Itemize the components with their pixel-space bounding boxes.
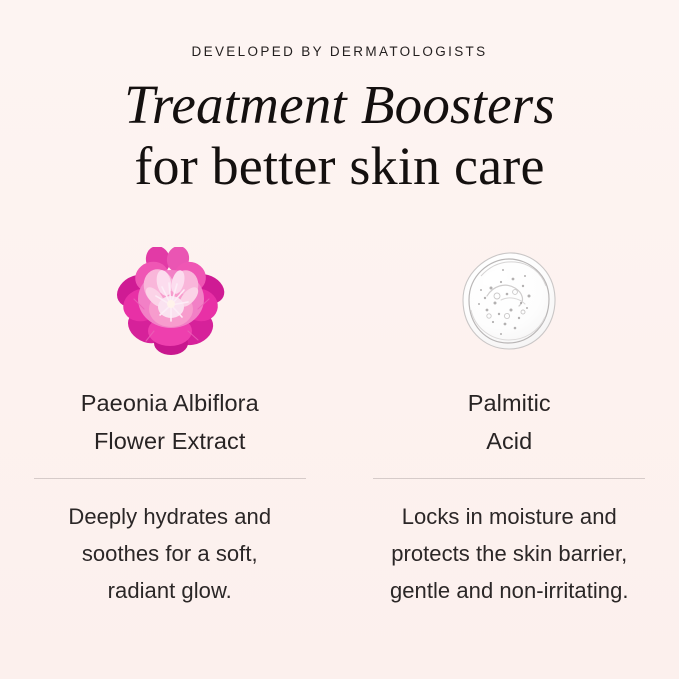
- headline-line-2: for better skin care: [0, 136, 679, 196]
- gel-art: [434, 240, 584, 362]
- ingredient-description-peony: Deeply hydrates and soothes for a soft, …: [68, 498, 271, 609]
- pink-peony-flower-icon: [114, 247, 226, 355]
- ingredient-name-palmitic-acid: Palmitic Acid: [468, 384, 551, 460]
- description-line-3: gentle and non-irritating.: [390, 572, 629, 609]
- headline-line-1: Treatment Boosters: [0, 74, 679, 136]
- ingredient-name-line-2: Acid: [468, 422, 551, 460]
- ingredient-columns: Paeonia Albiflora Flower Extract Deeply …: [0, 240, 679, 609]
- clear-gel-droplet-icon: [457, 248, 561, 354]
- description-line-1: Locks in moisture and: [390, 498, 629, 535]
- description-line-2: protects the skin barrier,: [390, 535, 629, 572]
- eyebrow-label: DEVELOPED BY DERMATOLOGISTS: [0, 44, 679, 59]
- product-ingredient-poster: DEVELOPED BY DERMATOLOGISTS Treatment Bo…: [0, 0, 679, 679]
- ingredient-name-line-2: Flower Extract: [81, 422, 259, 460]
- divider-peony: [34, 478, 306, 479]
- description-line-1: Deeply hydrates and: [68, 498, 271, 535]
- ingredient-description-palmitic-acid: Locks in moisture and protects the skin …: [390, 498, 629, 609]
- ingredient-name-line-1: Paeonia Albiflora: [81, 384, 259, 422]
- peony-art: [95, 240, 245, 362]
- ingredient-name-peony: Paeonia Albiflora Flower Extract: [81, 384, 259, 460]
- description-line-3: radiant glow.: [68, 572, 271, 609]
- page-title: Treatment Boosters for better skin care: [0, 74, 679, 196]
- ingredient-column-peony: Paeonia Albiflora Flower Extract Deeply …: [0, 240, 340, 609]
- ingredient-column-palmitic-acid: Palmitic Acid Locks in moisture and prot…: [340, 240, 679, 609]
- description-line-2: soothes for a soft,: [68, 535, 271, 572]
- ingredient-name-line-1: Palmitic: [468, 384, 551, 422]
- divider-palmitic-acid: [373, 478, 645, 479]
